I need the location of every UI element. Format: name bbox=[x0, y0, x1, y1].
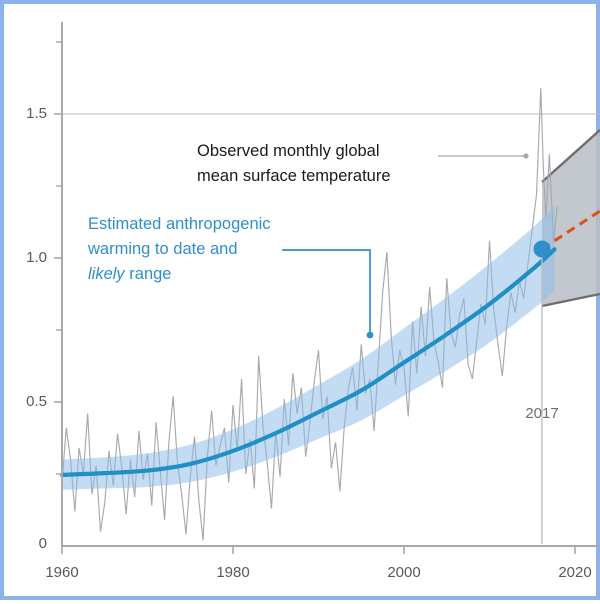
y-tick-label-1_5: 1.5 bbox=[26, 105, 47, 122]
y-axis-major-ticks bbox=[54, 114, 62, 402]
annotation-estimated-warming: Estimated anthropogenic warming to date … bbox=[87, 215, 373, 338]
x-tick-label-2020: 2020 bbox=[558, 564, 591, 581]
annotation-estimated-line1: Estimated anthropogenic bbox=[88, 215, 271, 233]
annotation-observed-line1: Observed monthly global bbox=[197, 142, 380, 160]
year-2017-label: 2017 bbox=[525, 405, 558, 422]
x-tick-label-2000: 2000 bbox=[387, 564, 420, 581]
annotation-estimated-leader-line bbox=[282, 250, 370, 335]
x-tick-label-1960: 1960 bbox=[45, 564, 78, 581]
annotation-observed: Observed monthly global mean surface tem… bbox=[197, 142, 529, 185]
y-tick-label-0_5: 0.5 bbox=[26, 393, 47, 410]
x-tick-label-1980: 1980 bbox=[216, 564, 249, 581]
annotation-estimated-line2: warming to date and bbox=[87, 240, 238, 258]
figure-frame: 2017 1.5 1.0 0.5 0 bbox=[0, 0, 600, 600]
y-tick-label-0: 0 bbox=[39, 535, 47, 552]
annotation-estimated-line3: likely range bbox=[88, 265, 171, 283]
x-axis-ticks bbox=[62, 546, 575, 554]
annotation-observed-line2: mean surface temperature bbox=[197, 167, 391, 185]
chart-canvas: 2017 1.5 1.0 0.5 0 bbox=[4, 4, 600, 604]
year-2017-marker-dot bbox=[534, 241, 551, 258]
annotation-estimated-leader-dot bbox=[367, 332, 374, 339]
temperature-chart-svg: 2017 1.5 1.0 0.5 0 bbox=[4, 4, 600, 604]
annotation-estimated-likely-word: likely bbox=[88, 265, 126, 283]
annotation-observed-leader-dot bbox=[523, 153, 528, 158]
y-tick-label-1_0: 1.0 bbox=[26, 249, 47, 266]
annotation-estimated-range-word: range bbox=[125, 265, 172, 283]
